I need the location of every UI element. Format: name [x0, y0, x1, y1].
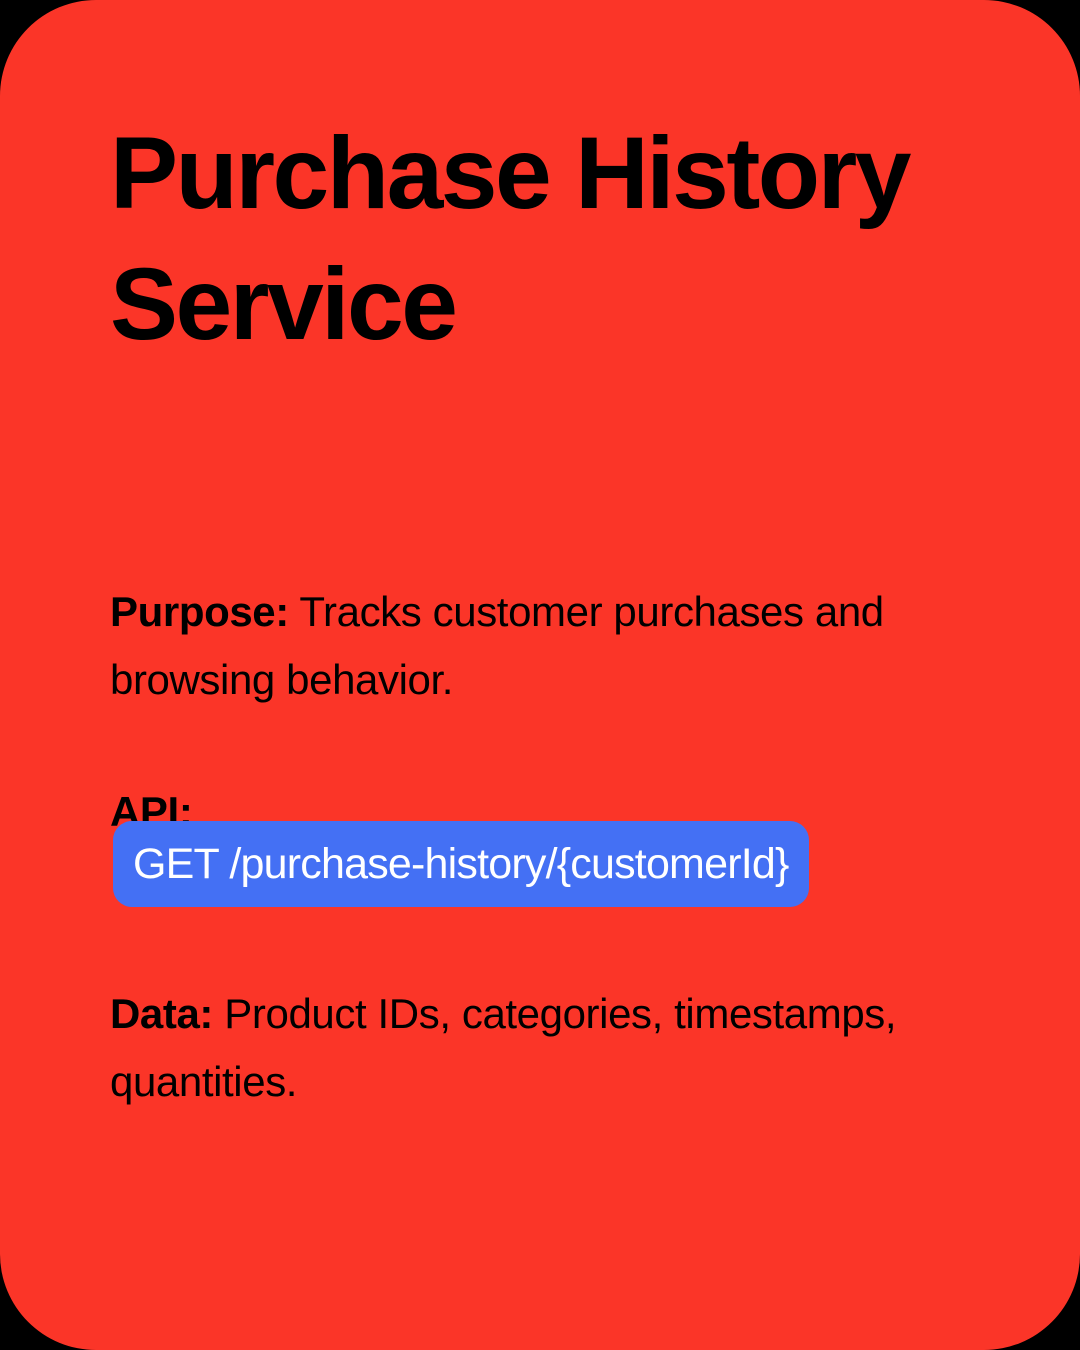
data-text: Product IDs, categories, timestamps, qua…	[110, 990, 896, 1105]
purpose-section: Purpose: Tracks customer purchases and b…	[110, 578, 1010, 714]
service-card: Purchase History Service Purpose: Tracks…	[0, 0, 1080, 1350]
data-label: Data:	[110, 990, 213, 1037]
api-endpoint-pill[interactable]: GET /purchase-history/{customerId}	[113, 821, 809, 907]
api-endpoint-text: GET /purchase-history/{customerId}	[133, 840, 789, 889]
page-title: Purchase History Service	[110, 108, 990, 369]
data-section: Data: Product IDs, categories, timestamp…	[110, 980, 1010, 1116]
purpose-label: Purpose:	[110, 588, 289, 635]
